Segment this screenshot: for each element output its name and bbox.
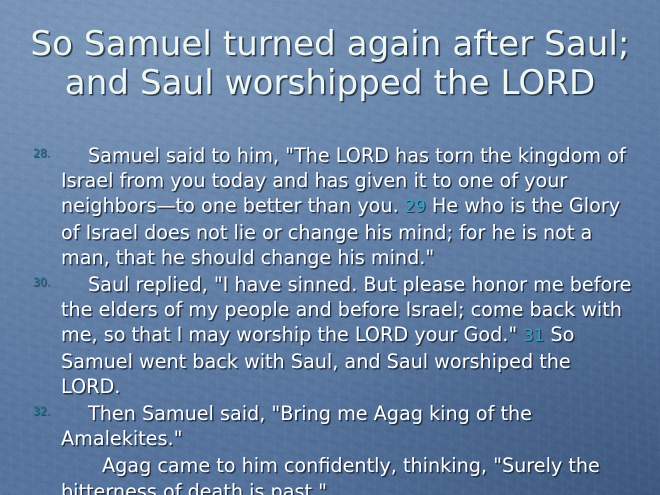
verse-paragraph: 28.Samuel said to him, "The LORD has tor… bbox=[31, 143, 635, 270]
verse-text: Agag came to him confidently, thinking, … bbox=[61, 454, 600, 495]
inline-verse-number: 29 bbox=[405, 197, 426, 216]
verse-marker: 30. bbox=[33, 277, 59, 289]
slide-title: So Samuel turned again after Saul; and S… bbox=[0, 25, 660, 103]
slide-title-line-2: and Saul worshipped the LORD bbox=[0, 64, 660, 103]
verse-text: Then Samuel said, "Bring me Agag king of… bbox=[61, 402, 532, 450]
verse-marker: 32. bbox=[33, 406, 59, 418]
verse-paragraph: Agag came to him confidently, thinking, … bbox=[31, 453, 635, 495]
verse-paragraph: 30.Saul replied, "I have sinned. But ple… bbox=[31, 272, 635, 399]
inline-verse-number: 31 bbox=[523, 326, 544, 345]
slide-body: 28.Samuel said to him, "The LORD has tor… bbox=[31, 143, 635, 495]
presentation-slide: So Samuel turned again after Saul; and S… bbox=[0, 0, 660, 495]
slide-title-line-1: So Samuel turned again after Saul; bbox=[0, 25, 660, 64]
verse-marker: 28. bbox=[33, 148, 59, 160]
verse-paragraph: 32.Then Samuel said, "Bring me Agag king… bbox=[31, 401, 635, 451]
